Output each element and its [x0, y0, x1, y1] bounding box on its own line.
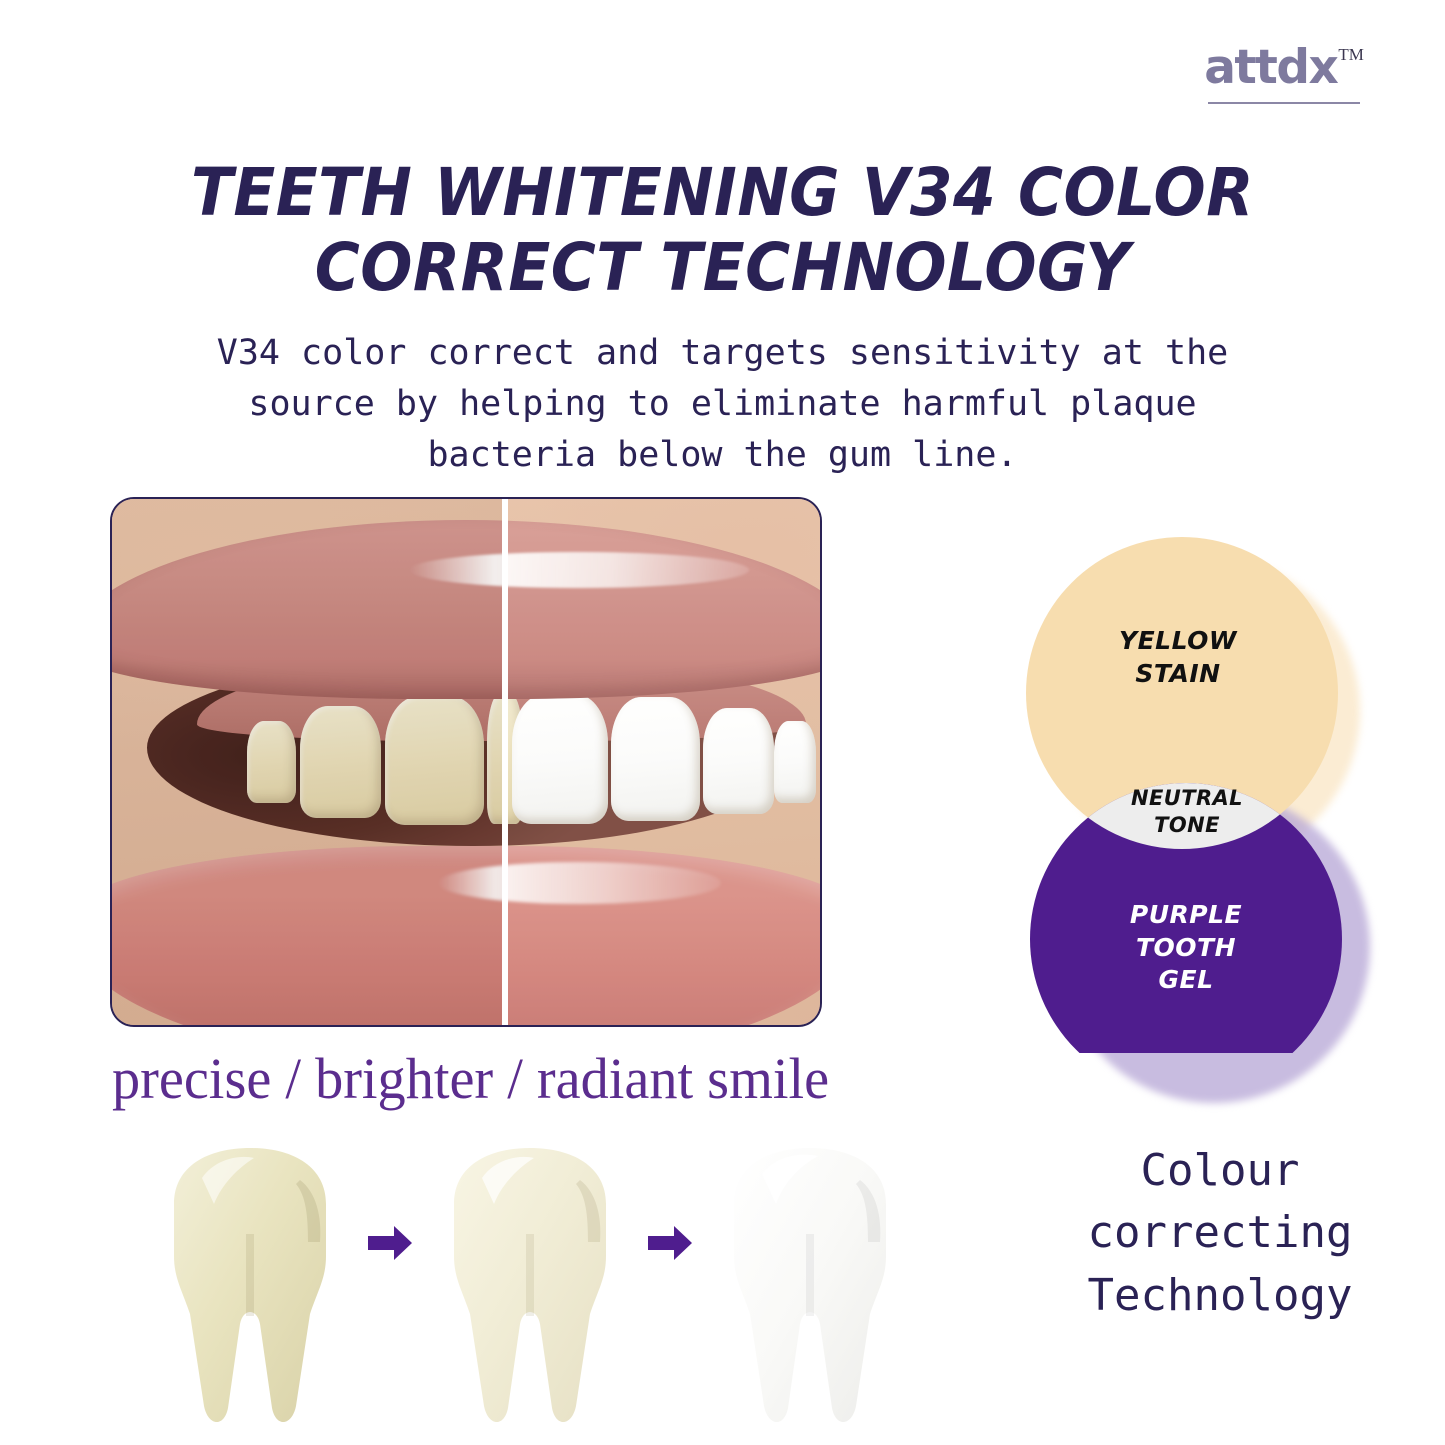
headline-line-1: TEETH WHITENING V34 COLOR	[116, 156, 1330, 231]
tooth-icon-stained	[150, 1138, 350, 1438]
partially-whitened-tooth-figure	[430, 1138, 630, 1438]
tagline: precise / brighter / radiant smile	[112, 1047, 927, 1111]
whitened-tooth-figure	[710, 1138, 910, 1438]
colour-correcting-technology-caption: Colour correcting Technology	[1020, 1140, 1420, 1327]
neutral-tone-label: NEUTRAL TONE	[1082, 785, 1292, 840]
purple-label-line-1: PURPLE	[1030, 899, 1342, 932]
logo-underline-divider	[1208, 102, 1360, 104]
neutral-tone-label-line-1: NEUTRAL	[1082, 785, 1292, 812]
before-after-divider-line	[502, 499, 508, 1025]
trademark-icon: TM	[1338, 46, 1364, 63]
subhead-line-2: source by helping to eliminate harmful p…	[85, 379, 1360, 430]
photo-inner	[112, 499, 820, 1025]
neutral-tone-label-line-2: TONE	[1082, 812, 1292, 839]
caption-line-3: Technology	[1020, 1265, 1420, 1327]
brand-logo[interactable]: attdx TM	[1199, 44, 1369, 104]
logo-row: attdx TM	[1199, 44, 1369, 91]
tooth-icon-partially-whitened	[430, 1138, 630, 1438]
tooth-icon-whitened	[710, 1138, 910, 1438]
tooth-whitening-progression	[150, 1138, 910, 1438]
progress-arrow-icon-1	[366, 1223, 414, 1263]
yellow-stain-label-line-2: STAIN	[1022, 658, 1334, 691]
subheadline-description: V34 color correct and targets sensitivit…	[85, 328, 1360, 480]
caption-line-2: correcting	[1020, 1202, 1420, 1264]
after-side-overlay	[505, 499, 820, 1025]
headline-line-2: CORRECT TECHNOLOGY	[116, 231, 1330, 306]
purple-tooth-gel-label: PURPLE TOOTH GEL	[1030, 899, 1342, 997]
subhead-line-3: bacteria below the gum line.	[85, 430, 1360, 481]
venn-diagram: YELLOW STAIN NEUTRAL TONE PURPLE TOOTH G…	[1022, 533, 1382, 1053]
before-after-smile-photo: before-and-after close-up of a smile spl…	[110, 497, 822, 1027]
product-marketing-page: attdx TM TEETH WHITENING V34 COLOR CORRE…	[0, 0, 1445, 1445]
before-side-overlay	[112, 499, 505, 1025]
purple-label-line-3: GEL	[1030, 964, 1342, 997]
subhead-line-1: V34 color correct and targets sensitivit…	[85, 328, 1360, 379]
stained-tooth-figure	[150, 1138, 350, 1438]
page-title: TEETH WHITENING V34 COLOR CORRECT TECHNO…	[116, 156, 1330, 305]
progress-arrow-icon-2	[646, 1223, 694, 1263]
yellow-stain-label-line-1: YELLOW	[1022, 625, 1334, 658]
purple-label-line-2: TOOTH	[1030, 932, 1342, 965]
caption-line-1: Colour	[1020, 1140, 1420, 1202]
yellow-stain-label: YELLOW STAIN	[1022, 625, 1334, 690]
logo-wordmark: attdx	[1204, 44, 1337, 91]
